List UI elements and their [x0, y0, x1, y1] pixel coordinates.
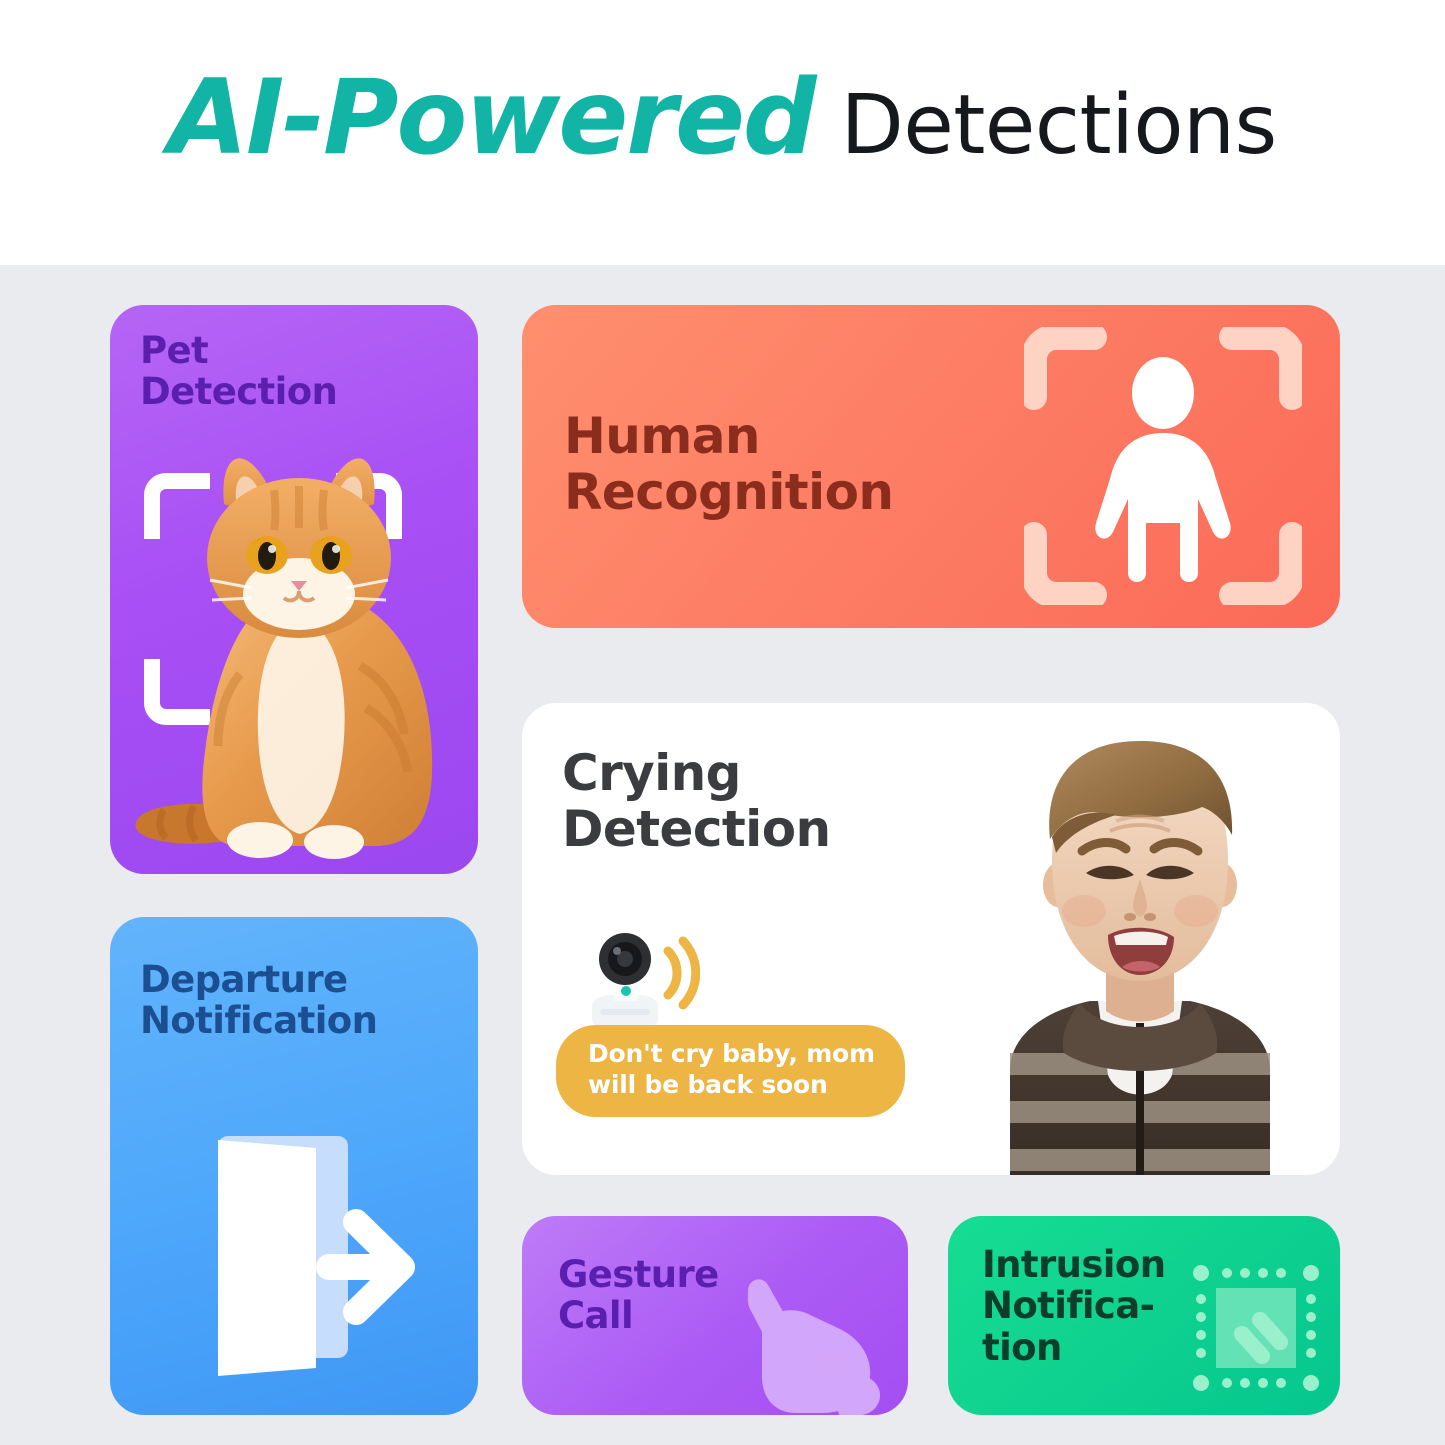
- page-title: AI-PoweredDetections: [0, 58, 1445, 178]
- page-title-accent: AI-Powered: [168, 58, 814, 178]
- cat-photo: [124, 408, 478, 874]
- intrusion-sensor-chip-icon: [1192, 1264, 1320, 1392]
- card-departure-notification[interactable]: Departure Notification: [110, 917, 478, 1415]
- card-human-recognition[interactable]: Human Recognition: [522, 305, 1340, 628]
- card-pet-detection-title: Pet Detection: [140, 330, 337, 413]
- feature-card-grid: Pet Detection: [0, 265, 1445, 1445]
- call-me-hand-icon: [736, 1269, 896, 1415]
- card-crying-detection-title: Crying Detection: [562, 745, 830, 857]
- card-intrusion-notification[interactable]: Intrusion Notifica- tion: [948, 1216, 1340, 1415]
- person-scan-frame-icon: [1024, 327, 1302, 605]
- card-intrusion-notification-title: Intrusion Notifica- tion: [982, 1244, 1165, 1368]
- page-header: AI-PoweredDetections: [0, 0, 1445, 265]
- card-pet-detection[interactable]: Pet Detection: [110, 305, 478, 874]
- card-gesture-call-title: Gesture Call: [558, 1254, 719, 1337]
- crying-speech-bubble-text: Don't cry baby, mom will be back soon: [588, 1039, 875, 1100]
- open-door-exit-icon: [188, 1132, 438, 1382]
- card-departure-notification-title: Departure Notification: [140, 959, 377, 1042]
- card-crying-detection[interactable]: Crying Detection Don't cry baby, mom wil…: [522, 703, 1340, 1175]
- crying-boy-photo: [940, 735, 1340, 1175]
- crying-speech-bubble: Don't cry baby, mom will be back soon: [556, 1025, 905, 1117]
- page-title-rest: Detections: [841, 78, 1277, 173]
- card-gesture-call[interactable]: Gesture Call: [522, 1216, 908, 1415]
- security-camera-icon: [570, 921, 700, 1031]
- card-human-recognition-title: Human Recognition: [564, 408, 893, 520]
